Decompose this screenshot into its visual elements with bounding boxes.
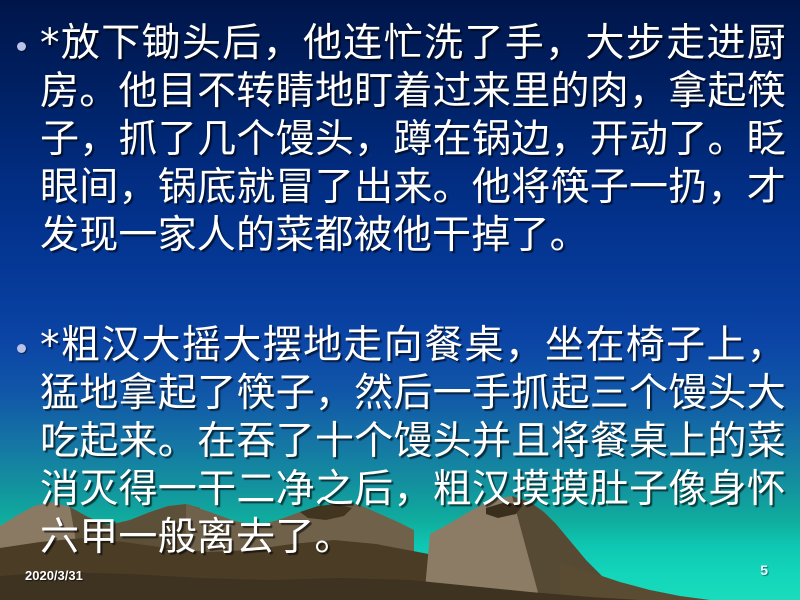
bullet-dot-icon <box>17 344 26 353</box>
bullet-paragraph-1: *放下锄头后，他连忙洗了手，大步走进厨房。他目不转睛地盯着过来里的肉，拿起筷子，… <box>0 20 800 260</box>
bullet-paragraph-2: *粗汉大摇大摆地走向餐桌，坐在椅子上，猛地拿起了筷子，然后一手抓起三个馒头大吃起… <box>0 322 800 562</box>
bullet-paragraph-2-text: *粗汉大摇大摆地走向餐桌，坐在椅子上，猛地拿起了筷子，然后一手抓起三个馒头大吃起… <box>40 322 786 562</box>
slide-content: *放下锄头后，他连忙洗了手，大步走进厨房。他目不转睛地盯着过来里的肉，拿起筷子，… <box>0 0 800 600</box>
footer-page-number: 5 <box>760 562 768 578</box>
footer-date: 2020/3/31 <box>25 568 83 583</box>
bullet-paragraph-1-text: *放下锄头后，他连忙洗了手，大步走进厨房。他目不转睛地盯着过来里的肉，拿起筷子，… <box>40 20 786 260</box>
presentation-slide: *放下锄头后，他连忙洗了手，大步走进厨房。他目不转睛地盯着过来里的肉，拿起筷子，… <box>0 0 800 600</box>
bullet-dot-icon <box>17 42 26 51</box>
